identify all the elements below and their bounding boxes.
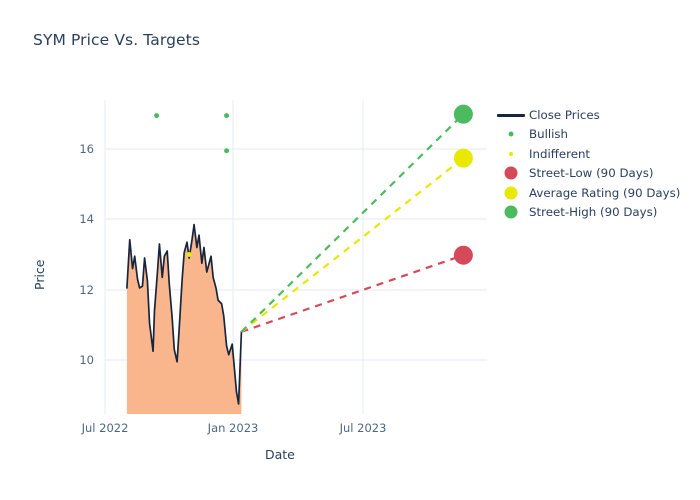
chart-legend: Close PricesBullishIndifferentStreet-Low… — [495, 105, 695, 222]
x-tick-label: Jul 2023 — [340, 421, 387, 435]
x-tick-label: Jul 2022 — [82, 421, 129, 435]
y-tick-label: 14 — [62, 212, 94, 226]
legend-dot-icon — [495, 203, 527, 222]
legend-dot-icon — [495, 164, 527, 183]
y-tick-label: 10 — [62, 353, 94, 367]
chart-container: SYM Price Vs. Targets 16141210 Jul 2022J… — [0, 0, 700, 500]
y-tick-label: 16 — [62, 142, 94, 156]
legend-item[interactable]: Close Prices — [495, 105, 695, 125]
legend-line-icon — [495, 105, 527, 124]
legend-dot-icon — [495, 183, 527, 202]
legend-item[interactable]: Indifferent — [495, 144, 695, 164]
y-tick-label: 12 — [62, 283, 94, 297]
target-markers — [454, 105, 473, 265]
y-axis-label: Price — [32, 260, 47, 291]
scatter-markers — [154, 113, 229, 257]
x-tick-label: Jan 2023 — [208, 421, 259, 435]
projection-lines — [241, 114, 463, 332]
legend-dot-icon — [495, 125, 527, 144]
x-axis-label: Date — [265, 447, 295, 462]
legend-item[interactable]: Street-Low (90 Days) — [495, 164, 695, 184]
legend-dot-icon — [495, 144, 527, 163]
legend-item-label: Bullish — [527, 127, 568, 141]
legend-item-label: Street-High (90 Days) — [527, 205, 657, 219]
legend-item-label: Street-Low (90 Days) — [527, 166, 654, 180]
legend-item-label: Indifferent — [527, 147, 590, 161]
legend-item[interactable]: Bullish — [495, 125, 695, 145]
legend-item[interactable]: Street-High (90 Days) — [495, 203, 695, 223]
legend-item-label: Close Prices — [527, 108, 600, 122]
legend-item-label: Average Rating (90 Days) — [527, 186, 680, 200]
legend-item[interactable]: Average Rating (90 Days) — [495, 183, 695, 203]
